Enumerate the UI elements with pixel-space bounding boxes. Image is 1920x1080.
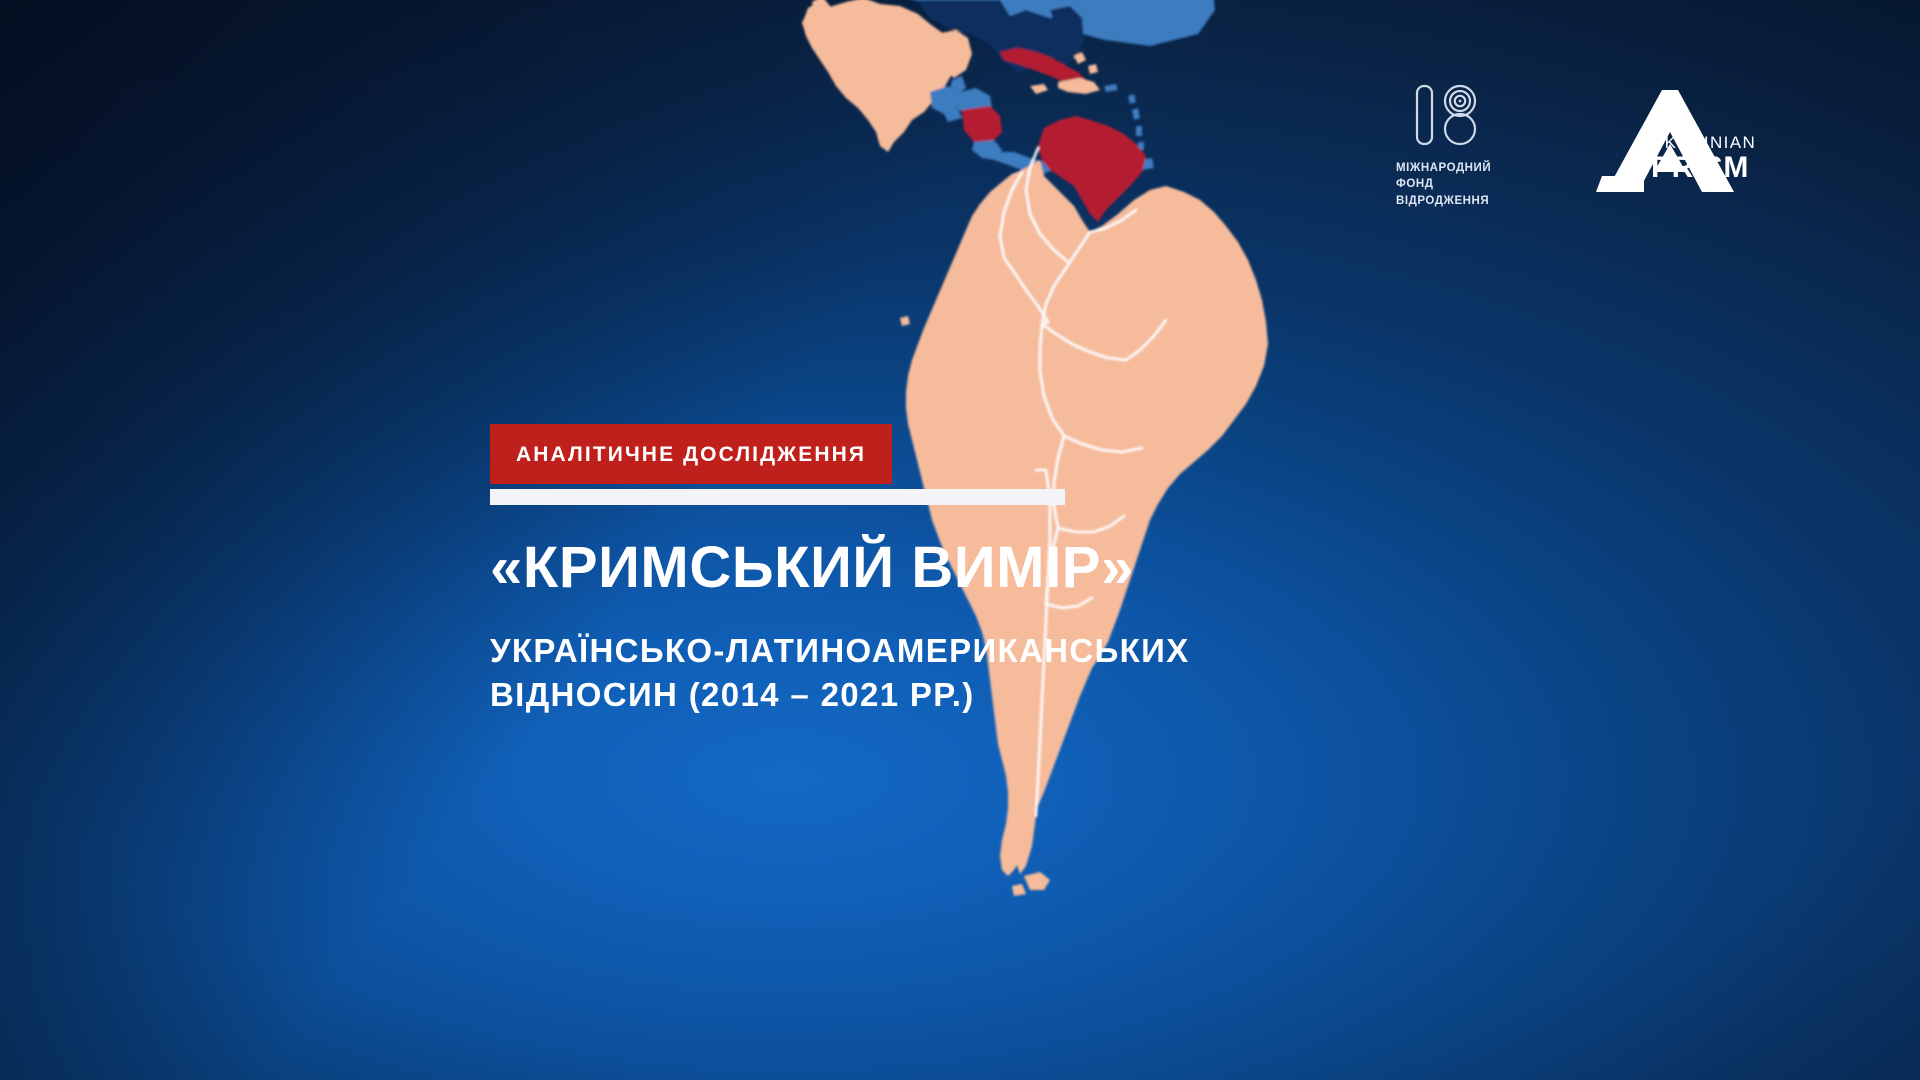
irf-name-line-1: МІЖНАРОДНИЙ xyxy=(1396,160,1556,176)
logo-ukrainian-prism[interactable]: UKRAINIAN PRISM xyxy=(1582,88,1772,200)
irf-name-line-2: ФОНД xyxy=(1396,176,1556,192)
page-subtitle-line-1: УКРАЇНСЬКО-ЛАТИНОАМЕРИКАНСЬКИХ xyxy=(490,629,1250,673)
page-title: «КРИМСЬКИЙ ВИМІР» xyxy=(490,537,1250,598)
poster-canvas: МІЖНАРОДНИЙ ФОНД ВІДРОДЖЕННЯ UKRAINIAN P… xyxy=(0,0,1920,1080)
prism-word-ukrainian: UKRAINIAN xyxy=(1651,134,1756,151)
study-type-badge: АНАЛІТИЧНЕ ДОСЛІДЖЕННЯ xyxy=(490,424,892,484)
irf-name-line-3: ВІДРОДЖЕННЯ xyxy=(1396,193,1556,209)
page-subtitle-line-2: ВІДНОСИН (2014 – 2021 РР.) xyxy=(490,673,1250,717)
logo-irf[interactable]: МІЖНАРОДНИЙ ФОНД ВІДРОДЖЕННЯ xyxy=(1396,84,1556,209)
prism-wordmark: UKRAINIAN PRISM xyxy=(1651,134,1756,184)
irf-name: МІЖНАРОДНИЙ ФОНД ВІДРОДЖЕННЯ xyxy=(1396,160,1556,209)
title-block: АНАЛІТИЧНЕ ДОСЛІДЖЕННЯ «КРИМСЬКИЙ ВИМІР»… xyxy=(490,424,1250,717)
title-divider-rule xyxy=(490,489,1065,505)
irf-mark-icon xyxy=(1415,84,1489,146)
prism-word-prism: PRISM xyxy=(1651,153,1756,184)
page-subtitle: УКРАЇНСЬКО-ЛАТИНОАМЕРИКАНСЬКИХ ВІДНОСИН … xyxy=(490,629,1250,717)
logo-group: МІЖНАРОДНИЙ ФОНД ВІДРОДЖЕННЯ UKRAINIAN P… xyxy=(1396,84,1796,214)
